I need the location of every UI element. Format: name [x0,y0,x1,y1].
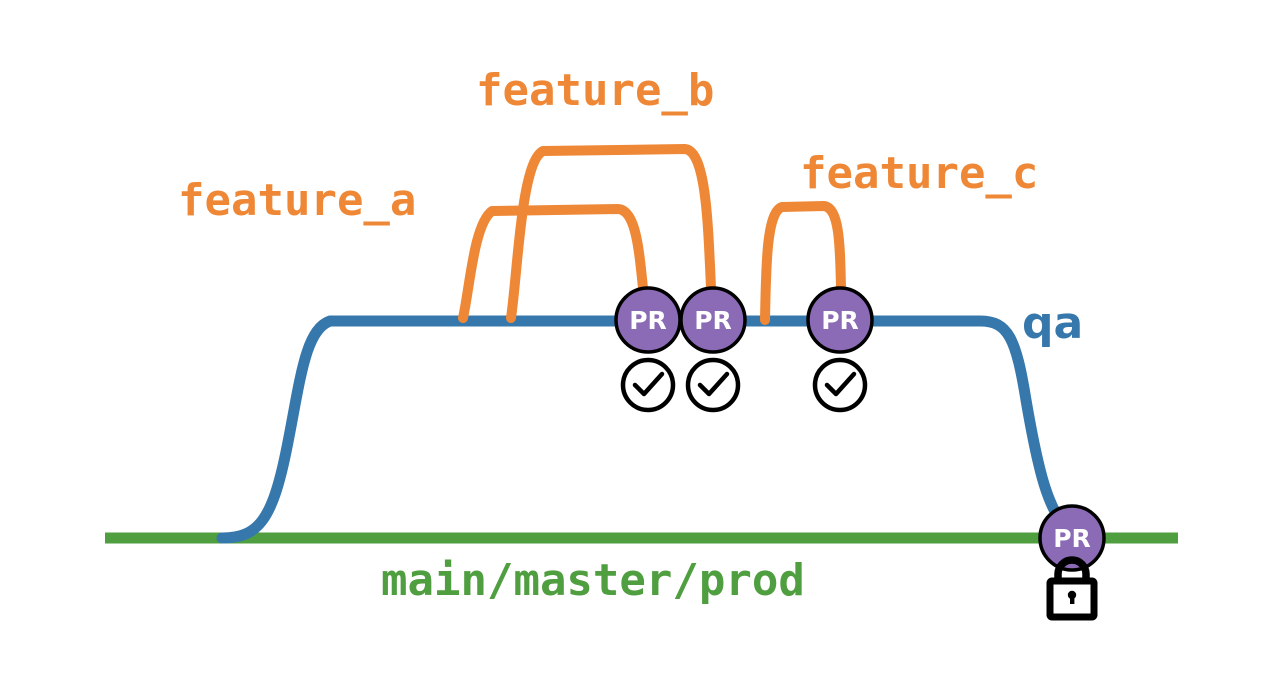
branch-label-feature-a: feature_a [178,175,416,226]
pr-node-feature-a[interactable]: PR [616,288,680,352]
pr-node-feature-c[interactable]: PR [808,288,872,352]
branch-line-feature-b[interactable] [511,149,711,318]
check-circle-icon [688,360,738,410]
branch-label-qa: qa [1022,298,1083,349]
branch-label-main: main/master/prod [381,555,805,606]
pr-node-label: PR [1053,524,1091,553]
branch-line-feature-a[interactable] [463,209,643,318]
pr-node-feature-b[interactable]: PR [681,288,745,352]
pr-node-label: PR [694,306,732,335]
branch-label-feature-c: feature_c [800,148,1038,199]
git-branch-diagram: PR PR PR PR [0,0,1288,678]
pr-node-label: PR [629,306,667,335]
check-circle-icon [815,360,865,410]
pr-node-label: PR [821,306,859,335]
branch-label-feature-b: feature_b [476,65,714,116]
branch-graph-canvas: PR PR PR PR [0,0,1288,678]
check-circle-icon [623,360,673,410]
